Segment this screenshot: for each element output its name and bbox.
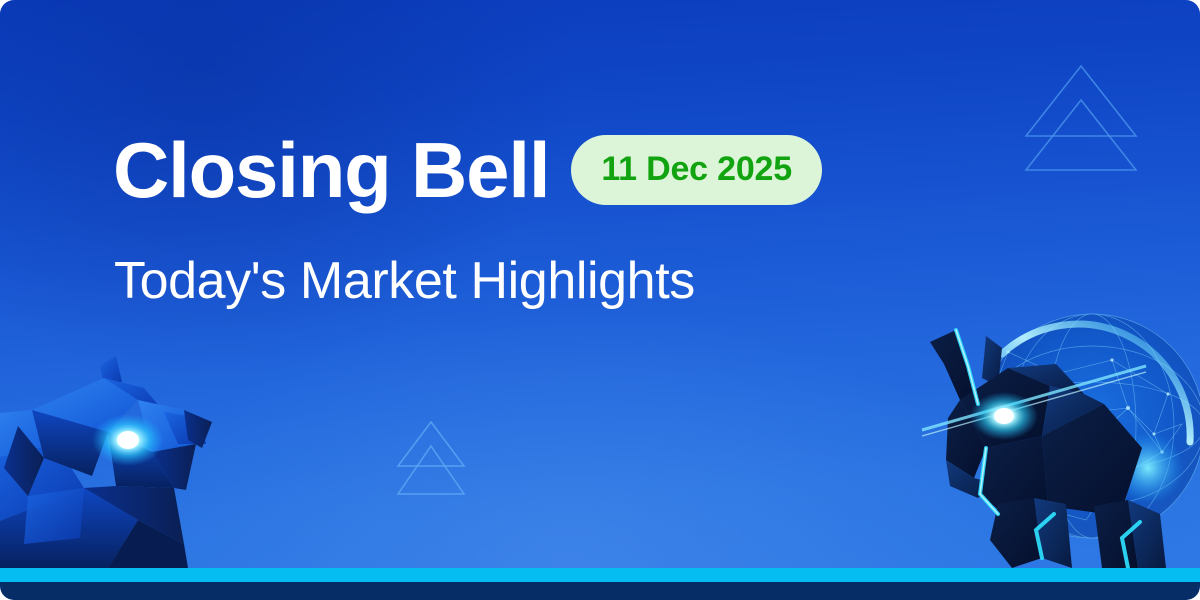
- closing-bell-banner: Closing Bell 11 Dec 2025 Today's Market …: [0, 0, 1200, 600]
- bull-mascot-icon: [916, 308, 1200, 568]
- page-subtitle: Today's Market Highlights: [114, 255, 695, 307]
- bear-mascot-icon: [0, 348, 238, 568]
- page-title: Closing Bell: [113, 131, 549, 209]
- background-glow-bottom: [120, 300, 1020, 600]
- double-up-arrow-icon-large: [1016, 58, 1146, 173]
- date-badge: 11 Dec 2025: [571, 135, 822, 205]
- double-up-arrow-icon-small: [392, 418, 470, 498]
- accent-bar-navy: [0, 582, 1200, 600]
- accent-bar-cyan: [0, 568, 1200, 582]
- headline-row: Closing Bell 11 Dec 2025: [113, 131, 822, 209]
